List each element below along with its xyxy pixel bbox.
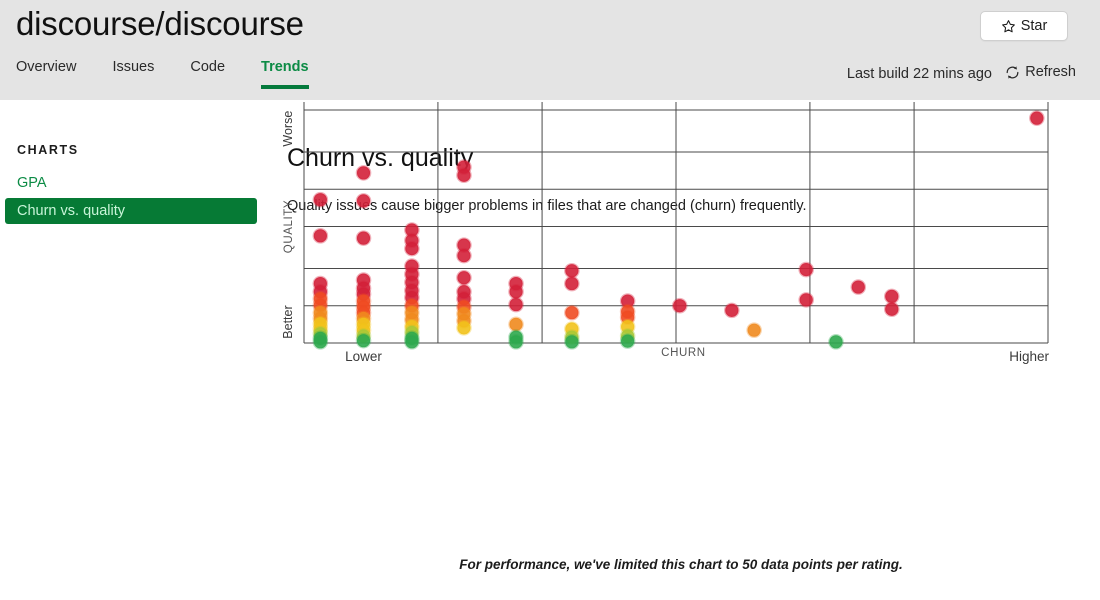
data-point[interactable]: [357, 194, 370, 207]
y-axis-low-label: Better: [281, 305, 295, 338]
data-point[interactable]: [748, 324, 761, 337]
sidebar-item-churn-vs-quality-label: Churn vs. quality: [17, 203, 125, 219]
y-axis-high-label: Worse: [281, 111, 295, 147]
star-button-label: Star: [1021, 18, 1048, 34]
data-point[interactable]: [405, 335, 418, 348]
tab-issues-label: Issues: [112, 59, 154, 75]
build-status: Last build 22 mins ago: [847, 66, 992, 82]
sidebar: CHARTS GPA Churn vs. quality: [0, 100, 262, 600]
data-point[interactable]: [314, 193, 327, 206]
data-point[interactable]: [314, 229, 327, 242]
y-axis-title: QUALITY: [283, 200, 295, 253]
data-point[interactable]: [565, 335, 578, 348]
refresh-button[interactable]: Refresh: [1005, 64, 1076, 80]
data-point[interactable]: [357, 232, 370, 245]
data-point[interactable]: [800, 263, 813, 276]
data-point[interactable]: [509, 318, 522, 331]
data-point[interactable]: [357, 334, 370, 347]
x-axis-high-label: Higher: [1009, 349, 1049, 364]
tab-code-label: Code: [190, 59, 225, 75]
scatter-plot-svg[interactable]: WorseQUALITYBetterLowerCHURNHigher: [262, 100, 1100, 560]
tab-overview-label: Overview: [16, 59, 76, 75]
data-point[interactable]: [565, 264, 578, 277]
chart-footnote: For performance, we've limited this char…: [262, 557, 1100, 572]
main-nav: Overview Issues Code Trends: [16, 58, 309, 89]
sidebar-heading: CHARTS: [17, 143, 79, 157]
scatter-chart[interactable]: WorseQUALITYBetterLowerCHURNHigher: [262, 100, 1100, 560]
x-axis-low-label: Lower: [345, 349, 382, 364]
app-header: discourse/discourse Star Overview Issues…: [0, 0, 1100, 100]
star-button[interactable]: Star: [980, 11, 1068, 41]
main-content: Churn vs. quality Quality issues cause b…: [262, 100, 1100, 600]
data-point[interactable]: [673, 299, 686, 312]
tab-trends-label: Trends: [261, 59, 309, 75]
data-point[interactable]: [621, 335, 634, 348]
sidebar-item-churn-vs-quality[interactable]: Churn vs. quality: [5, 198, 257, 224]
data-point[interactable]: [852, 280, 865, 293]
sidebar-item-gpa-label: GPA: [17, 175, 47, 191]
data-point[interactable]: [565, 306, 578, 319]
data-points-group: [314, 112, 1044, 349]
data-point[interactable]: [457, 321, 470, 334]
tab-code[interactable]: Code: [190, 58, 225, 89]
star-outline-icon: [1001, 19, 1016, 34]
data-point[interactable]: [565, 277, 578, 290]
refresh-icon: [1005, 65, 1020, 80]
tab-issues[interactable]: Issues: [112, 58, 154, 89]
tab-trends[interactable]: Trends: [261, 58, 309, 89]
data-point[interactable]: [885, 290, 898, 303]
data-point[interactable]: [314, 335, 327, 348]
data-point[interactable]: [509, 285, 522, 298]
refresh-button-label: Refresh: [1025, 64, 1076, 80]
sidebar-item-gpa[interactable]: GPA: [17, 175, 47, 191]
data-point[interactable]: [457, 271, 470, 284]
tab-overview[interactable]: Overview: [16, 58, 76, 89]
data-point[interactable]: [885, 303, 898, 316]
data-point[interactable]: [1030, 112, 1043, 125]
data-point[interactable]: [509, 335, 522, 348]
page-title: discourse/discourse: [16, 2, 304, 46]
x-axis-title: CHURN: [661, 347, 706, 359]
data-point[interactable]: [829, 335, 842, 348]
data-point[interactable]: [725, 304, 738, 317]
data-point[interactable]: [800, 293, 813, 306]
data-point[interactable]: [405, 242, 418, 255]
data-point[interactable]: [357, 166, 370, 179]
data-point[interactable]: [457, 249, 470, 262]
data-point[interactable]: [457, 169, 470, 182]
data-point[interactable]: [509, 298, 522, 311]
